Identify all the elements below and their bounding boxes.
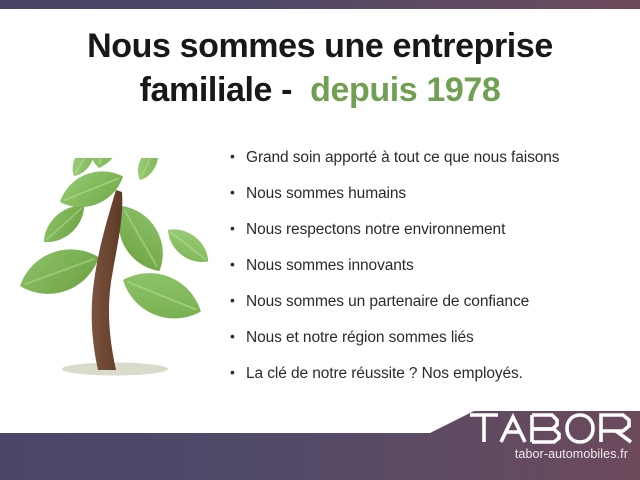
brand-logo[interactable]: tabor-automobiles.fr (468, 411, 628, 461)
page-title: Nous sommes une entreprise familiale - d… (0, 26, 640, 110)
list-item: Nous sommes un partenaire de confiance (228, 294, 628, 310)
slide-canvas: Nous sommes une entreprise familiale - d… (0, 0, 640, 480)
list-item: Nous sommes innovants (228, 258, 628, 274)
list-item: Nous et notre région sommes liés (228, 330, 628, 346)
list-item: Nous respectons notre environnement (228, 222, 628, 238)
title-line-2-plain: familiale - (140, 71, 292, 109)
list-item: Grand soin apporté à tout ce que nous fa… (228, 150, 628, 166)
tree-trunk (92, 190, 123, 370)
leaf (115, 261, 208, 330)
leaf (13, 238, 106, 305)
leaf (133, 158, 164, 183)
title-accent-year: depuis 1978 (310, 71, 500, 109)
value-bullet-list: Grand soin apporté à tout ce que nous fa… (228, 150, 628, 402)
logo-tagline: tabor-automobiles.fr (468, 447, 628, 461)
list-item: La clé de notre réussite ? Nos employés. (228, 366, 628, 382)
top-accent-bar (0, 0, 640, 9)
tree-illustration (12, 158, 222, 383)
leaf (161, 221, 215, 270)
title-line-2: familiale - depuis 1978 (0, 70, 640, 110)
logo-wordmark-tabor (468, 411, 636, 445)
title-line-1: Nous sommes une entreprise (0, 26, 640, 66)
list-item: Nous sommes humains (228, 186, 628, 202)
